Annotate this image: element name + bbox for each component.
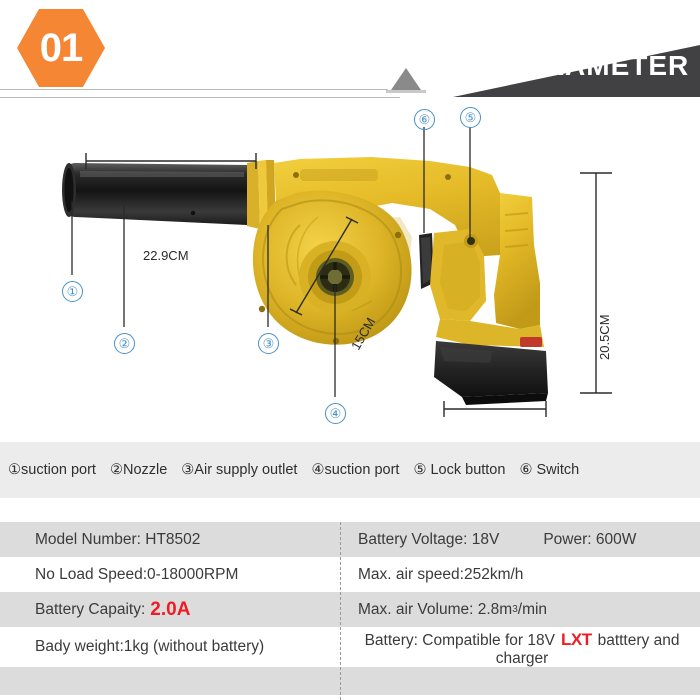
legend-label-6: Switch [536, 462, 579, 478]
spec-no-load-speed: No Load Speed:0-18000RPM [0, 566, 340, 584]
step-number-label: 01 [40, 28, 83, 68]
legend-glyph-1: ① [8, 462, 21, 478]
header-rule-upper [0, 89, 388, 90]
spec-battery-capacity-label: Battery Capaity: [35, 601, 145, 619]
table-row: Bady weight:1kg (without battery) Batter… [0, 627, 700, 667]
spec-battery-compatibility-cell: Battery: Compatible for 18VLXTbatttery a… [340, 627, 700, 667]
legend-label-5: Lock button [430, 462, 505, 478]
legend-item-3: ③Air supply outlet [181, 462, 297, 478]
legend-bar: ①suction port ②Nozzle ③Air supply outlet… [0, 442, 700, 498]
table-column-divider [340, 522, 341, 700]
blower-illustration [0, 105, 700, 440]
table-row: Model Number: HT8502 Battery Voltage: 18… [0, 522, 700, 557]
spec-battery-compat-prefix: Battery: Compatible for 18V [365, 632, 555, 649]
legend-glyph-5: ⑤ [413, 462, 426, 478]
spec-max-air-volume-cell: Max. air Volume: 2.8m3/min [340, 601, 700, 619]
spec-air-volume-unit: /min [518, 601, 547, 619]
banner-triangle-base [386, 90, 426, 93]
step-number-badge: 01 [17, 9, 105, 87]
legend-glyph-6: ⑥ [519, 462, 532, 478]
table-row: No Load Speed:0-18000RPM Max. air speed:… [0, 557, 700, 592]
spec-model-number: Model Number: HT8502 [0, 531, 340, 549]
banner-triangle-marker-icon [391, 68, 421, 90]
legend-label-3: Air supply outlet [194, 462, 297, 478]
spec-battery-voltage: Battery Voltage: 18V [358, 531, 499, 549]
table-row: Battery Capaity: 2.0A Max. air Volume: 2… [0, 592, 700, 627]
legend-item-1: ①suction port [8, 462, 96, 478]
callout-2: ② [114, 333, 135, 354]
spec-max-air-speed: Max. air speed:252km/h [340, 566, 700, 584]
legend-glyph-4: ④ [311, 462, 324, 478]
legend-item-2: ②Nozzle [110, 462, 167, 478]
legend-item-4: ④suction port [311, 462, 399, 478]
banner-title: PARAMETER [505, 52, 700, 80]
spec-max-air-volume: Max. air Volume: 2.8m [358, 601, 512, 619]
dimension-label-nozzle-length: 22.9CM [143, 248, 189, 263]
legend-glyph-2: ② [110, 462, 123, 478]
spec-body-weight: Bady weight:1kg (without battery) [0, 638, 340, 656]
spec-power: Power: 600W [543, 531, 636, 549]
spec-battery-capacity-value: 2.0A [150, 599, 190, 621]
legend-label-4: suction port [324, 462, 399, 478]
spec-lxt-badge: LXT [561, 630, 592, 649]
callout-3: ③ [258, 333, 279, 354]
callout-6: ⑥ [414, 109, 435, 130]
dimension-label-overall-height: 20.5CM [597, 314, 612, 360]
legend-item-6: ⑥ Switch [519, 462, 579, 478]
callout-4: ④ [325, 403, 346, 424]
legend-glyph-3: ③ [181, 462, 194, 478]
page-header: 01 PARAMETER [0, 0, 700, 105]
legend-label-1: suction port [21, 462, 96, 478]
legend-label-2: Nozzle [123, 462, 167, 478]
header-rule-lower [0, 97, 400, 98]
legend-item-5: ⑤ Lock button [413, 462, 505, 478]
spec-battery-voltage-cell: Battery Voltage: 18V Power: 600W [340, 531, 700, 549]
callout-5: ⑤ [460, 107, 481, 128]
spec-battery-capacity-cell: Battery Capaity: 2.0A [0, 599, 340, 621]
product-diagram: 22.9CM 15CM 20.5CM 12.5CM ① ② ③ ④ ⑤ ⑥ [0, 105, 700, 440]
table-footer-band [0, 667, 700, 695]
specification-table: Model Number: HT8502 Battery Voltage: 18… [0, 522, 700, 700]
callout-1: ① [62, 281, 83, 302]
